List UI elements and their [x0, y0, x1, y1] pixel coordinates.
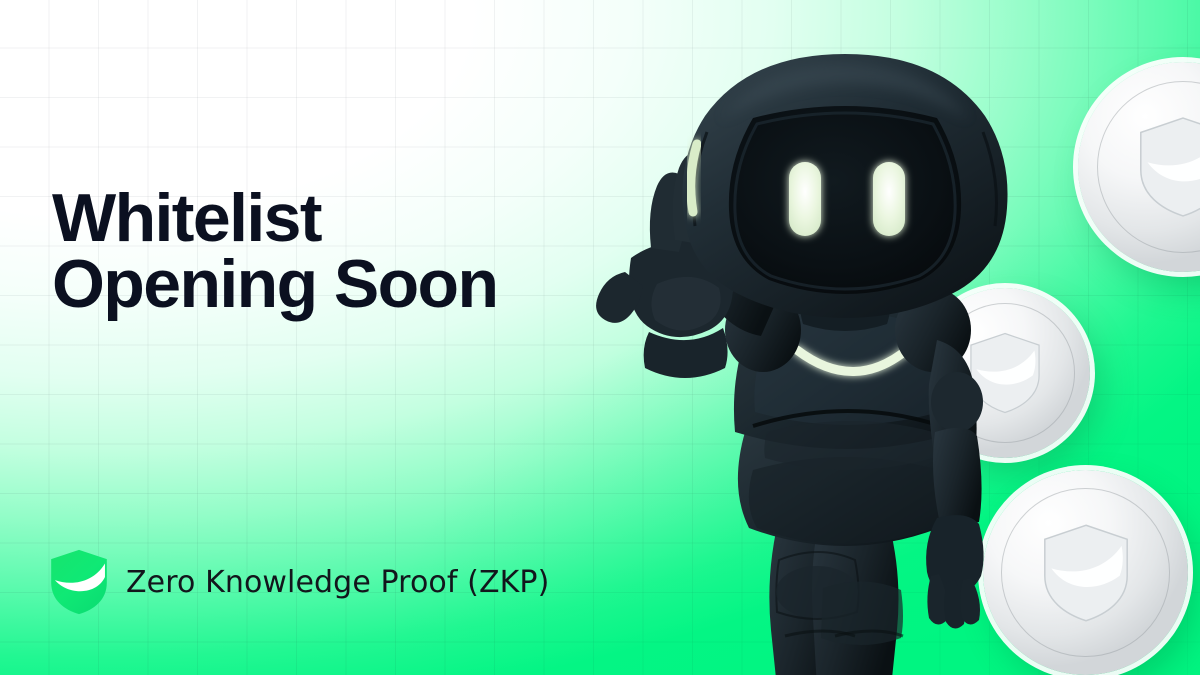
promo-banner: Whitelist Opening Soon Zero Knowledge Pr… [0, 0, 1200, 675]
robot-left-eye [789, 162, 821, 236]
robot-right-eye [873, 162, 905, 236]
brand-lockup[interactable]: Zero Knowledge Proof (ZKP) [48, 548, 549, 616]
robot-right-hand [923, 515, 984, 628]
robot-mascot-svg [585, 40, 1105, 675]
shield-emboss-icon [1130, 114, 1200, 220]
robot-faceplate [729, 106, 961, 294]
zkp-shield-logo-icon [48, 548, 110, 616]
coin-face [1097, 81, 1200, 253]
page-title: Whitelist Opening Soon [52, 186, 497, 318]
brand-name-label: Zero Knowledge Proof (ZKP) [126, 565, 549, 600]
robot-mascot-illustration [585, 40, 1105, 675]
robot-head [682, 54, 1007, 318]
